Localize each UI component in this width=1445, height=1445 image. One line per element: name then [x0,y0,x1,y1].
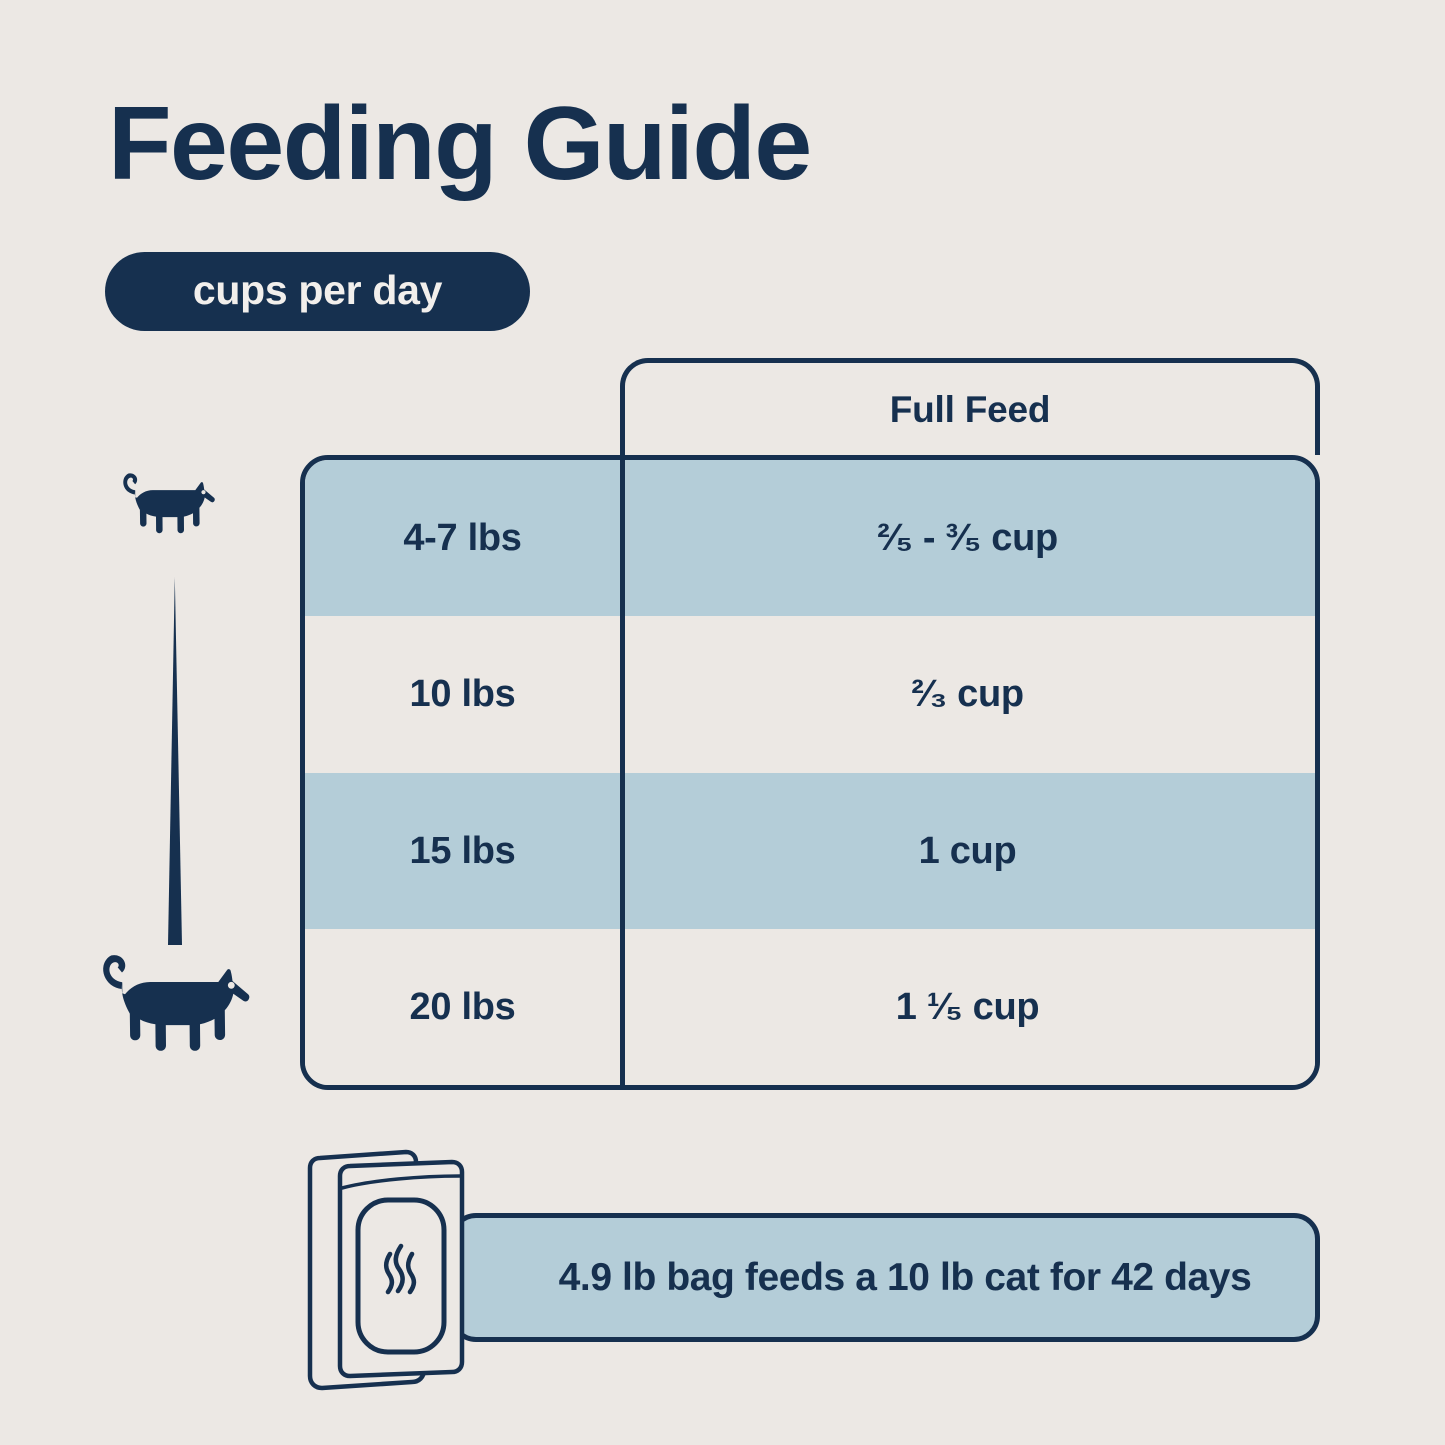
cat-silhouette-small-icon [110,467,218,547]
cups-per-day-badge: cups per day [105,252,530,331]
table-row: 4-7 lbs ²⁄₅ - ³⁄₅ cup [305,460,1315,616]
cell-weight: 20 lbs [305,988,620,1026]
cat-size-scale [70,455,285,1095]
table-row: 20 lbs 1 ¹⁄₅ cup [305,929,1315,1085]
table-body: 4-7 lbs ²⁄₅ - ³⁄₅ cup 10 lbs ²⁄₃ cup 15 … [300,455,1320,1090]
page-title: Feeding Guide [108,92,811,196]
column-header-label: Full Feed [890,391,1051,428]
cat-silhouette-large-icon [82,945,254,1073]
cell-weight: 10 lbs [305,675,620,713]
table-row: 10 lbs ²⁄₃ cup [305,616,1315,772]
cell-amount: ²⁄₃ cup [620,675,1315,713]
bag-duration-banner: 4.9 lb bag feeds a 10 lb cat for 42 days [450,1213,1320,1342]
bag-duration-text: 4.9 lb bag feeds a 10 lb cat for 42 days [519,1258,1252,1297]
cell-amount: 1 cup [620,832,1315,870]
cell-weight: 15 lbs [305,832,620,870]
table-column-divider [620,460,625,1085]
feeding-table: Full Feed 4-7 lbs ²⁄₅ - ³⁄₅ cup 10 lbs ²… [300,358,1320,1090]
cups-per-day-label: cups per day [193,270,442,314]
cell-amount: 1 ¹⁄₅ cup [620,988,1315,1026]
cell-amount: ²⁄₅ - ³⁄₅ cup [620,519,1315,557]
feeding-guide-page: Feeding Guide cups per day [0,0,1445,1445]
food-bag-icon [302,1148,487,1393]
table-header-full-feed: Full Feed [620,358,1320,455]
table-row: 15 lbs 1 cup [305,773,1315,929]
size-scale-wedge-icon [158,577,192,945]
table-rows: 4-7 lbs ²⁄₅ - ³⁄₅ cup 10 lbs ²⁄₃ cup 15 … [305,460,1315,1085]
cell-weight: 4-7 lbs [305,519,620,557]
